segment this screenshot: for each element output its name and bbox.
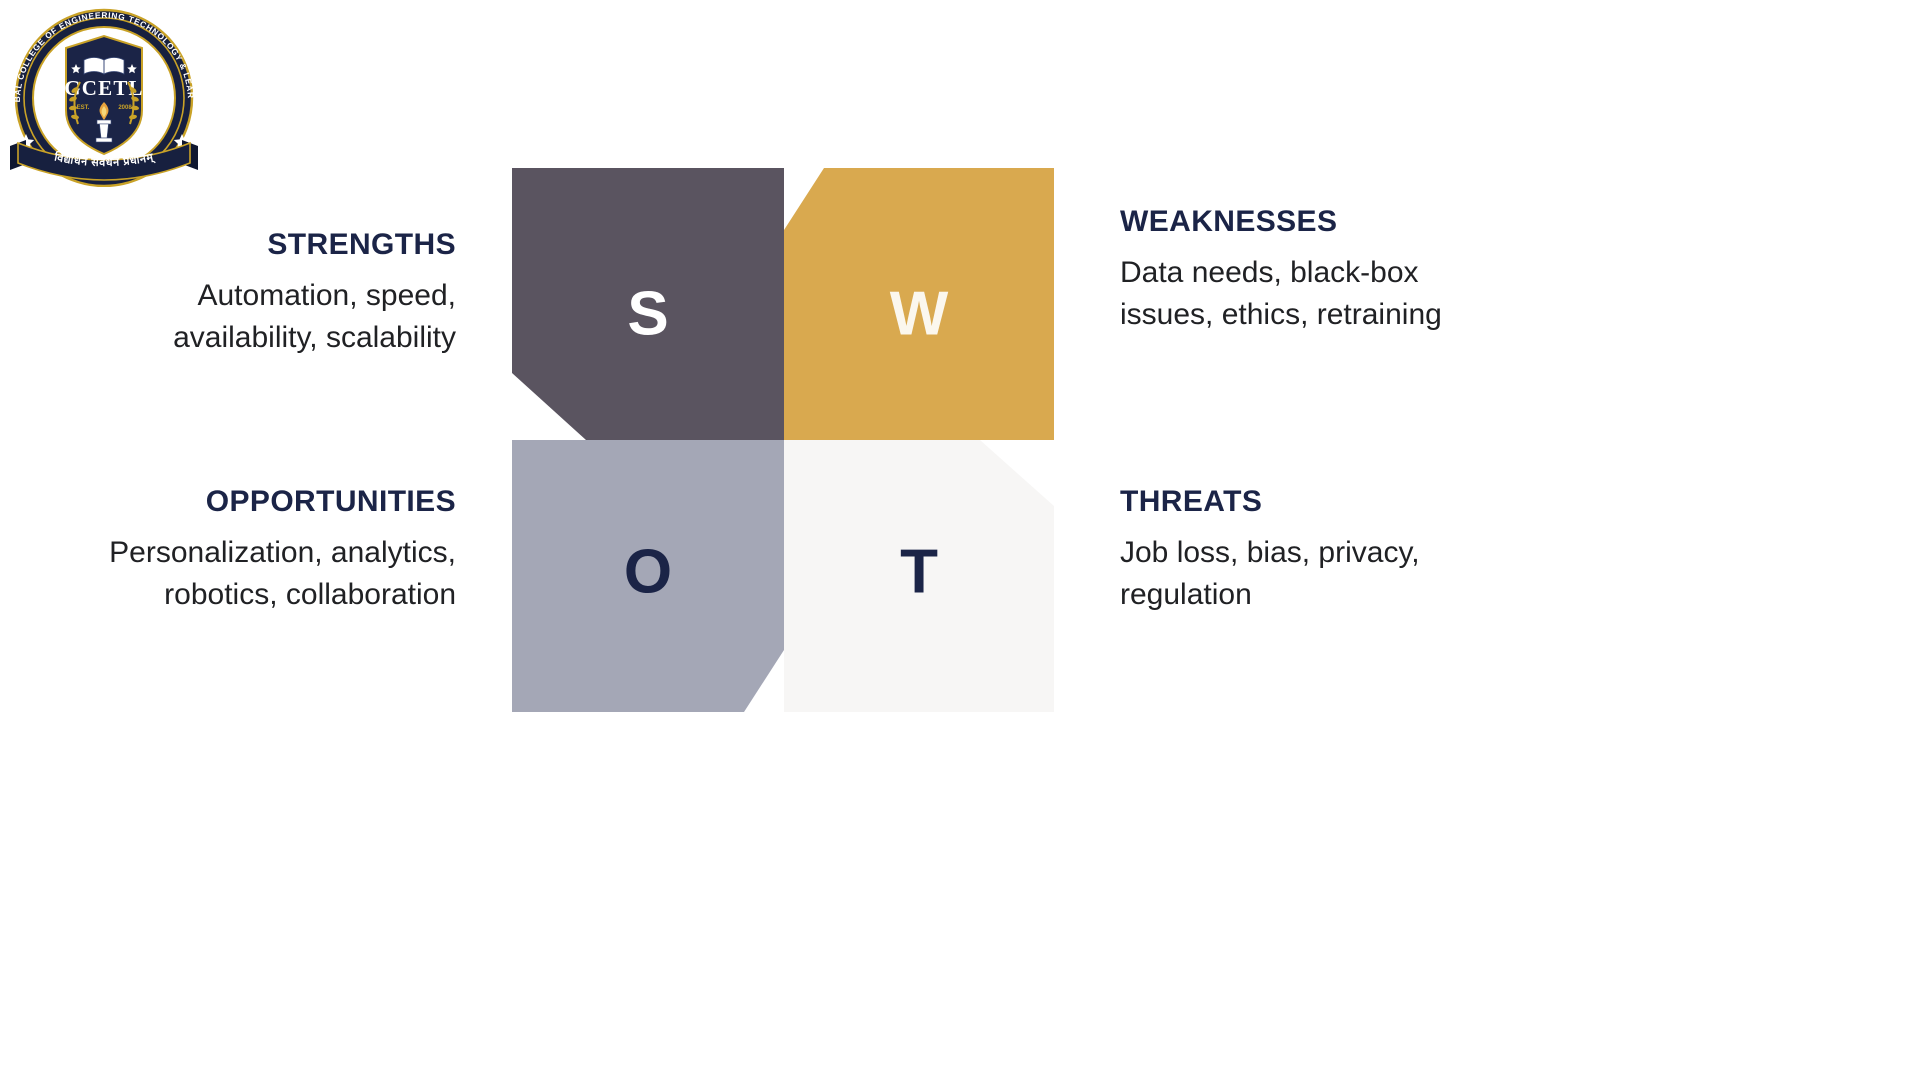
slide-canvas: GLOBAL COLLEGE OF ENGINEERING TECHNOLOGY… bbox=[0, 0, 1920, 1080]
logo-book-icon bbox=[84, 58, 124, 75]
swot-diagram: S W O T bbox=[512, 168, 1054, 712]
swot-letter-t: T bbox=[900, 537, 938, 606]
threats-body: Job loss, bias, privacy, regulation bbox=[1120, 532, 1520, 617]
opportunities-heading: OPPORTUNITIES bbox=[60, 485, 456, 520]
logo-est-label: EST. bbox=[77, 105, 90, 111]
strengths-body: Automation, speed, availability, scalabi… bbox=[60, 275, 456, 360]
swot-letter-w: W bbox=[890, 279, 949, 348]
threats-heading: THREATS bbox=[1120, 485, 1520, 520]
opportunities-body: Personalization, analytics, robotics, co… bbox=[60, 532, 456, 617]
weaknesses-body: Data needs, black-box issues, ethics, re… bbox=[1120, 252, 1520, 337]
strengths-heading: STRENGTHS bbox=[60, 228, 456, 263]
swot-text-opportunities: OPPORTUNITIES Personalization, analytics… bbox=[60, 485, 456, 617]
logo-est-year: 2008 bbox=[118, 105, 132, 111]
swot-letter-o: O bbox=[624, 537, 672, 606]
weaknesses-heading: WEAKNESSES bbox=[1120, 205, 1520, 240]
swot-text-weaknesses: WEAKNESSES Data needs, black-box issues,… bbox=[1120, 205, 1520, 337]
swot-text-strengths: STRENGTHS Automation, speed, availabilit… bbox=[60, 228, 456, 360]
gcetl-logo: GLOBAL COLLEGE OF ENGINEERING TECHNOLOGY… bbox=[4, 2, 204, 187]
swot-text-threats: THREATS Job loss, bias, privacy, regulat… bbox=[1120, 485, 1520, 617]
swot-letter-s: S bbox=[627, 279, 668, 348]
